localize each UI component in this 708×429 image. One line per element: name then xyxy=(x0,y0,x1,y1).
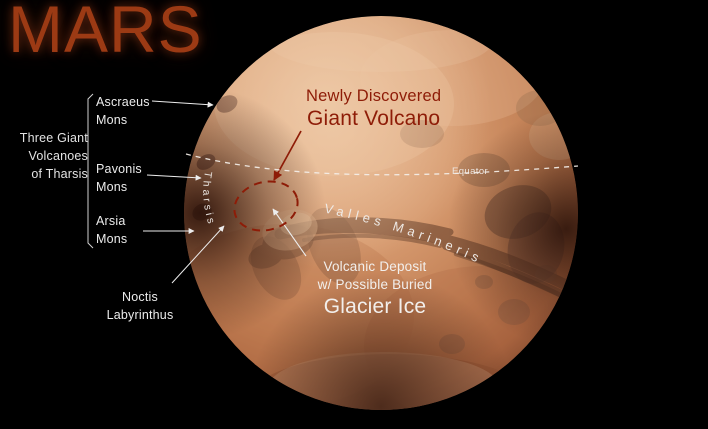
label-pavonis-mons-line1: Pavonis xyxy=(96,160,142,178)
tharsis-group-label-line2: Volcanoes xyxy=(2,147,88,165)
callout-glacier-ice-line2: w/ Possible Buried xyxy=(286,276,464,294)
label-noctis-labyrinthus-line2: Labyrinthus xyxy=(88,307,192,325)
label-ascraeus-mons-line2: Mons xyxy=(96,111,150,129)
label-arsia-mons-line1: Arsia xyxy=(96,212,127,230)
callout-glacier-ice-line1: Volcanic Deposit xyxy=(286,258,464,276)
callout-glacier-ice-line3: Glacier Ice xyxy=(286,294,464,320)
label-arsia-mons-line2: Mons xyxy=(96,230,127,248)
page-title: MARS xyxy=(8,0,203,62)
label-ascraeus-mons: Ascraeus Mons xyxy=(96,93,150,129)
label-noctis-labyrinthus-line1: Noctis xyxy=(88,289,192,307)
tharsis-group-label: Three Giant Volcanoes of Tharsis xyxy=(2,129,88,183)
label-pavonis-mons-line2: Mons xyxy=(96,178,142,196)
label-arsia-mons: Arsia Mons xyxy=(96,212,127,248)
label-noctis-labyrinthus: Noctis Labyrinthus xyxy=(88,289,192,325)
label-pavonis-mons: Pavonis Mons xyxy=(96,160,142,196)
callout-glacier-ice: Volcanic Deposit w/ Possible Buried Glac… xyxy=(286,258,464,320)
tharsis-group-label-line1: Three Giant xyxy=(2,129,88,147)
callout-giant-volcano: Newly Discovered Giant Volcano xyxy=(306,86,441,131)
mars-infographic: Tharsis Valles Marineris Equator MARS Th… xyxy=(0,0,708,429)
volcano-group-bracket xyxy=(88,94,93,248)
mars-globe xyxy=(184,16,578,410)
callout-giant-volcano-line2: Giant Volcano xyxy=(306,106,441,131)
callout-giant-volcano-line1: Newly Discovered xyxy=(306,86,441,106)
tharsis-group-label-line3: of Tharsis xyxy=(2,165,88,183)
label-ascraeus-mons-line1: Ascraeus xyxy=(96,93,150,111)
